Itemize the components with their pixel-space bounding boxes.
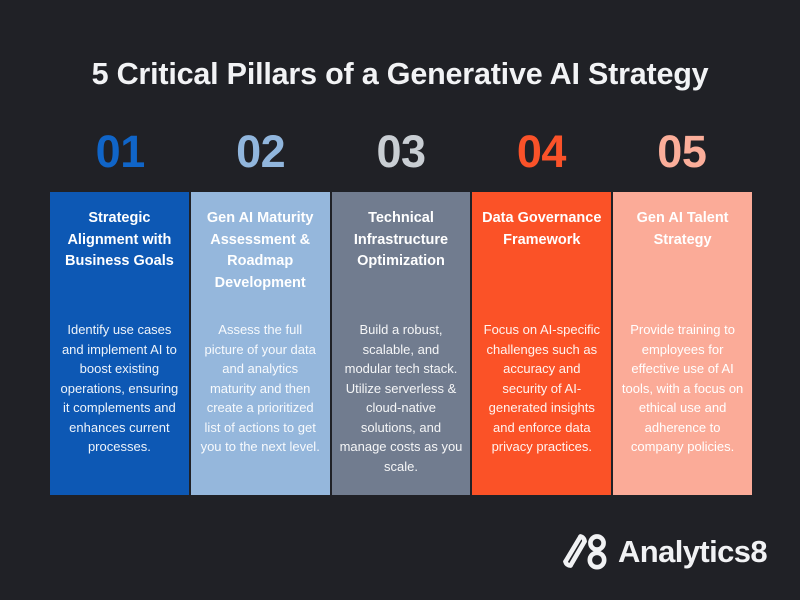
pillar-body-02: Assess the full picture of your data and… [198,320,323,457]
pillar-body-04: Focus on AI-specific challenges such as … [479,320,604,457]
pillar-number-04: 04 [471,126,611,182]
pillar-card-05: Gen AI Talent Strategy Provide training … [613,192,752,495]
pillar-columns: Strategic Alignment with Business Goals … [50,192,752,495]
pillar-number-row: 01 02 03 04 05 [50,126,752,182]
analytics8-logo-mark [558,529,608,575]
pillar-number-01: 01 [50,126,190,182]
pillar-body-01: Identify use cases and implement AI to b… [57,320,182,457]
page-title: 5 Critical Pillars of a Generative AI St… [0,57,800,92]
pillar-heading-05: Gen AI Talent Strategy [621,208,744,251]
pillar-card-01: Strategic Alignment with Business Goals … [50,192,189,495]
pillar-card-02: Gen AI Maturity Assessment & Roadmap Dev… [191,192,330,495]
pillar-body-03: Build a robust, scalable, and modular te… [339,320,464,476]
pillar-heading-04: Data Governance Framework [480,208,603,251]
pillar-number-03: 03 [331,126,471,182]
pillar-card-04: Data Governance Framework Focus on AI-sp… [472,192,611,495]
pillar-number-02: 02 [190,126,330,182]
pillar-heading-03: Technical Infrastructure Optimization [340,208,463,273]
pillar-heading-02: Gen AI Maturity Assessment & Roadmap Dev… [199,208,322,294]
pillar-card-03: Technical Infrastructure Optimization Bu… [332,192,471,495]
pillar-heading-01: Strategic Alignment with Business Goals [58,208,181,273]
infographic-canvas: 5 Critical Pillars of a Generative AI St… [0,0,800,600]
pillar-body-05: Provide training to employees for effect… [620,320,745,457]
brand-logo: Analytics8 [558,529,767,575]
brand-name: Analytics8 [618,535,767,569]
pillar-number-05: 05 [612,126,752,182]
